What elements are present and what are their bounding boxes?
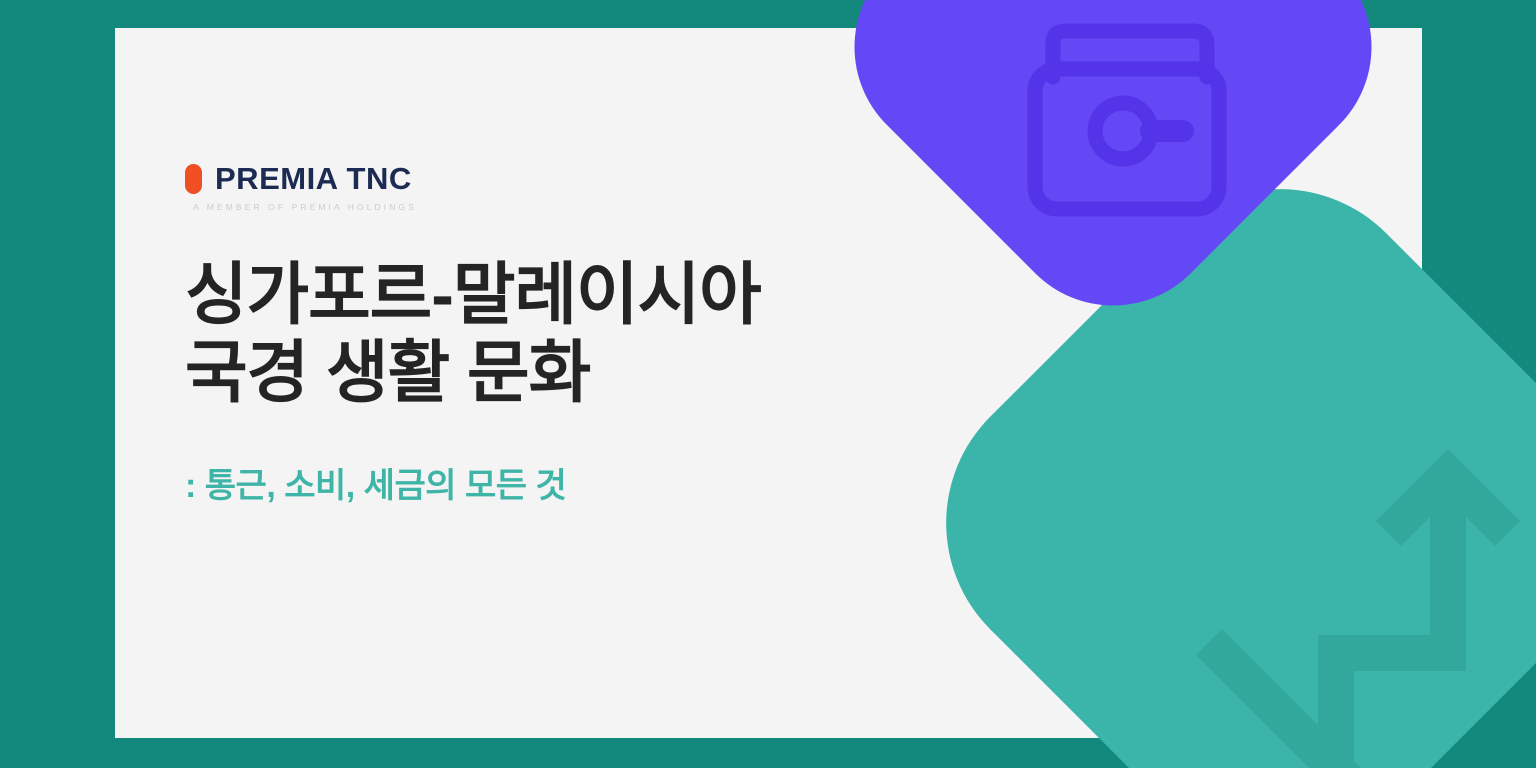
pill-mark-icon bbox=[185, 164, 202, 194]
page-title: 싱가포르-말레이시아 국경 생활 문화 bbox=[185, 256, 761, 412]
page-subtitle: : 통근, 소비, 세금의 모든 것 bbox=[185, 458, 761, 507]
wallet-icon bbox=[997, 3, 1257, 263]
brand-name: PREMIA TNC bbox=[215, 163, 412, 194]
page-title-line-1: 싱가포르-말레이시아 bbox=[185, 256, 761, 334]
page-title-line-2: 국경 생활 문화 bbox=[185, 334, 761, 412]
brand-logo: PREMIA TNC A MEMBER OF PREMIA HOLDINGS bbox=[185, 163, 761, 212]
content-block: PREMIA TNC A MEMBER OF PREMIA HOLDINGS 싱… bbox=[185, 163, 761, 507]
thumbnail-canvas: PREMIA TNC A MEMBER OF PREMIA HOLDINGS 싱… bbox=[0, 0, 1536, 768]
brand-tagline: A MEMBER OF PREMIA HOLDINGS bbox=[193, 202, 761, 212]
exchange-arrows-icon bbox=[1148, 399, 1536, 768]
brand-logo-row: PREMIA TNC bbox=[185, 163, 761, 194]
